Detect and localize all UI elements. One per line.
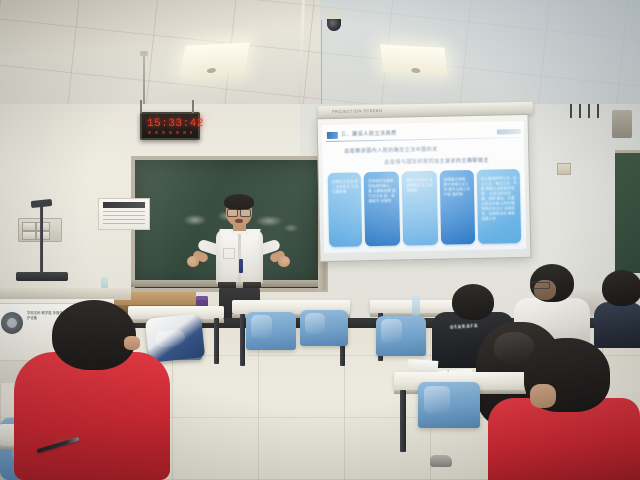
projection-screen: 三、建设人民立法高质 这是推进国内人民的确定立法中国的关 此是保与国际权限同加主… [317,114,532,262]
light-fixture-dot [411,68,421,73]
lecturer-belt-buckle [236,282,243,288]
ceiling-light-panel-1 [180,42,250,75]
slide-card: 这是民主法治 的二法治的主 立法主要的律 [328,172,363,247]
chair-highlight [305,313,325,335]
light-fixture-dot [206,68,216,73]
slide-card-text: 推进立法主主 法规保持立法 之法规定相 [406,178,434,194]
slide-card: 坚持依宪治国依 宪执政的核心，要 主要推进着 国行法主全 面，依据原专 法规则 [364,172,401,247]
shoe [430,455,452,467]
outlet-socket[interactable] [36,222,50,231]
clock-time-display: 15:33:42 [147,118,204,130]
clock-bracket-left [140,100,142,113]
student-torso [594,302,640,348]
student-ear [124,336,140,350]
student-red-front-left [6,306,176,480]
student-head [52,300,136,370]
ceiling-cable [321,20,322,112]
chair[interactable] [246,312,296,350]
lecturer-mouth [235,219,243,223]
outlet-socket[interactable] [22,231,36,240]
desk-leg [214,318,219,364]
slide-watermark [497,129,521,135]
student-ear-face [530,384,556,408]
wall-hooks [570,104,606,118]
dome-security-camera-icon [326,11,342,20]
slide-card: 深入推进科学立法、民 主立法、依法立法，不断 提高立法质量和效率， 以良法促进发… [477,169,522,244]
lecturer-left-hand [187,256,199,267]
clock-date-row [148,131,192,134]
classroom-photo: 15:33:42 PROJECTION SCREEN 三、建设人民立法高质 [0,0,640,480]
chair-highlight [424,386,450,414]
slide-card-text: 深入推进科学立法、民 主立法、依法立法，不断 提高立法质量和效率， 以良法促进发… [481,176,518,222]
water-bottle [412,296,420,316]
wall-outlet-right[interactable] [557,163,571,175]
slide-card: 加强重点领域、 新兴领域立法工作 提升法规工作产权 保护制 [439,170,475,245]
chair[interactable] [418,382,480,428]
notice-text-lines [103,211,145,225]
chair-highlight [381,319,402,343]
slide-body-line-2: 此是保与国际权限同加主速进的主确联链主 [384,157,489,166]
lecturer-lanyard [239,259,243,273]
slide-card: 推进立法主主 法规保持立法 之法规定相 [402,171,438,246]
screen-case-label: PROJECTION SCREEN [332,108,382,114]
ceiling-hanging-rod [143,55,145,107]
chair[interactable] [376,316,426,356]
slide-body-line-1: 这是推进国内人民的确定立法中国的关 [344,146,438,155]
lecturer-hair [224,194,254,210]
lecturer-right-hand [278,256,290,267]
slide-card-text: 这是民主法治 的二法治的主 立法主要的律 [332,179,359,195]
ceiling-light-wash [320,0,640,112]
led-wall-clock: 15:33:42 [140,112,200,140]
outlet-socket[interactable] [22,222,36,231]
notice-header-bar [103,202,145,208]
student-head [452,284,494,320]
desk-leg [240,314,245,366]
document-camera-arm [40,205,43,273]
lecturer-shirt-pocket [223,248,235,259]
clock-bracket-right [192,100,194,113]
eyeglasses-icon [530,282,550,289]
presentation-slide: 三、建设人民立法高质 这是推进国内人民的确定立法中国的关 此是保与国际权限同加主… [322,121,527,253]
desk-leg [400,390,406,452]
chair-highlight [251,315,272,338]
slide-card-text: 坚持依宪治国依 宪执政的核心，要 主要推进着 国行法主全 面，依据原专 法规则 [368,179,397,205]
student-navy-far-right [594,272,640,342]
outlet-socket[interactable] [36,231,50,240]
loose-paper [408,359,439,373]
eyeglasses-icon [227,209,251,215]
document-camera-base [16,272,68,281]
blackboard-right-panel [615,150,640,273]
student-torso [14,352,170,480]
ceiling-light-panel-2 [380,44,448,75]
chair[interactable] [300,310,348,346]
slide-title: 三、建设人民立法高质 [341,130,397,140]
slide-card-row: 这是民主法治 的二法治的主 立法主要的律 坚持依宪治国依 宪执政的核心，要 主要… [328,169,522,247]
slide-card-text: 加强重点领域、 新兴领域立法工作 提升法规工作产权 保护制 [444,177,472,198]
student-red-front-right [488,346,640,480]
ceiling [0,0,640,112]
slide-bullet-icon [327,132,338,139]
wall-speaker [612,110,632,138]
student-head [602,270,640,306]
wall-notice-board [98,198,150,230]
